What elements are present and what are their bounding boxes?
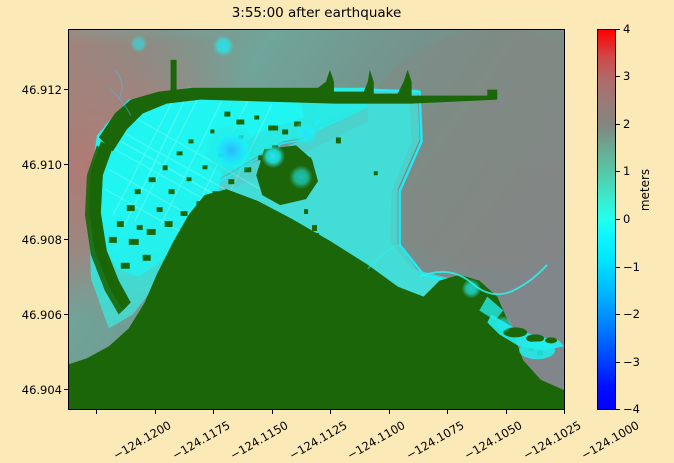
- colorbar-tick-label: −1: [623, 260, 640, 274]
- x-tick-label: −124.1175: [170, 418, 233, 462]
- map-axes[interactable]: [68, 29, 565, 410]
- colorbar-tick-label: 3: [623, 69, 630, 83]
- y-tick-label: 46.910: [0, 158, 62, 172]
- x-tick-mark: [389, 410, 390, 414]
- x-tick-label: −124.1050: [462, 418, 525, 462]
- colorbar-tick-label: −3: [623, 355, 640, 369]
- colorbar-tick-mark: [616, 124, 620, 125]
- x-tick-mark: [96, 410, 97, 414]
- colorbar-tick-mark: [616, 267, 620, 268]
- colorbar-tick-label: 2: [623, 117, 630, 131]
- x-tick-label: −124.1200: [111, 418, 174, 462]
- y-tick-mark: [64, 89, 68, 90]
- x-tick-mark: [564, 410, 565, 414]
- x-tick-mark: [506, 410, 507, 414]
- x-tick-label: −124.1000: [579, 418, 642, 462]
- colorbar-tick-mark: [616, 219, 620, 220]
- colorbar-tick-mark: [616, 171, 620, 172]
- y-tick-label: 46.908: [0, 233, 62, 247]
- colorbar-tick-label: 1: [623, 164, 630, 178]
- colorbar-tick-label: 4: [623, 22, 630, 36]
- colorbar[interactable]: [597, 29, 616, 410]
- x-tick-label: −124.1150: [228, 418, 291, 462]
- y-tick-mark: [64, 314, 68, 315]
- y-tick-mark: [64, 389, 68, 390]
- y-tick-label: 46.906: [0, 308, 62, 322]
- colorbar-tick-mark: [616, 29, 620, 30]
- x-tick-mark: [272, 410, 273, 414]
- colorbar-tick-mark: [616, 76, 620, 77]
- y-tick-mark: [64, 239, 68, 240]
- colorbar-axis-label: meters: [638, 169, 652, 211]
- x-tick-mark: [155, 410, 156, 414]
- colorbar-tick-label: 0: [623, 212, 630, 226]
- x-tick-label: −124.1025: [521, 418, 584, 462]
- x-tick-mark: [330, 410, 331, 414]
- figure-canvas: 3:55:00 after earthquake: [0, 0, 674, 463]
- wave-crest-layer: [69, 30, 564, 409]
- x-tick-label: −124.1100: [345, 418, 408, 462]
- colorbar-tick-label: −4: [623, 402, 640, 416]
- tsunami-inundation-heatmap: [69, 30, 564, 409]
- y-tick-label: 46.912: [0, 83, 62, 97]
- colorbar-tick-mark: [616, 314, 620, 315]
- page-title: 3:55:00 after earthquake: [68, 5, 565, 21]
- y-tick-label: 46.904: [0, 383, 62, 397]
- x-tick-mark: [213, 410, 214, 414]
- x-tick-label: −124.1075: [404, 418, 467, 462]
- colorbar-tick-mark: [616, 362, 620, 363]
- colorbar-tick-mark: [616, 409, 620, 410]
- y-tick-mark: [64, 164, 68, 165]
- x-tick-label: −124.1125: [287, 418, 350, 462]
- colorbar-tick-label: −2: [623, 307, 640, 321]
- x-tick-mark: [447, 410, 448, 414]
